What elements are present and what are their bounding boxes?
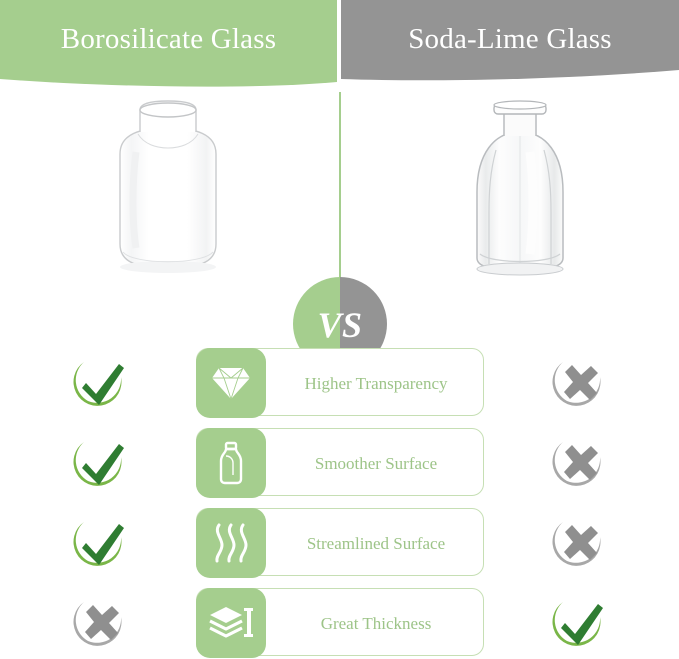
check-icon [549, 592, 609, 652]
soda-lime-bottle-image [430, 92, 610, 297]
feature-row: Smoother Surface [0, 428, 679, 496]
feature-label: Higher Transparency [275, 349, 477, 417]
check-icon [70, 512, 130, 572]
feature-pill: Streamlined Surface [196, 508, 484, 576]
bottle-icon [196, 428, 266, 498]
cross-icon [549, 512, 609, 572]
waves-icon [196, 508, 266, 578]
cross-icon [549, 432, 609, 492]
cross-icon [70, 592, 130, 652]
feature-comparison-list: Higher Transparency Smoot [0, 340, 679, 659]
feature-row: Great Thickness [0, 588, 679, 656]
header-title-borosilicate: Borosilicate Glass [0, 16, 337, 62]
feature-pill: Smoother Surface [196, 428, 484, 496]
feature-label: Smoother Surface [275, 429, 477, 497]
feature-row: Higher Transparency [0, 348, 679, 416]
feature-pill: Great Thickness [196, 588, 484, 656]
feature-label: Great Thickness [275, 589, 477, 657]
comparison-header: Borosilicate Glass Soda-Lime Glass [0, 0, 679, 92]
check-icon [70, 352, 130, 412]
diamond-icon [196, 348, 266, 418]
cross-icon [549, 352, 609, 412]
feature-label: Streamlined Surface [275, 509, 477, 577]
feature-pill: Higher Transparency [196, 348, 484, 416]
borosilicate-jar-image [78, 92, 258, 297]
header-title-soda-lime: Soda-Lime Glass [341, 16, 679, 62]
layers-icon [196, 588, 266, 658]
check-icon [70, 432, 130, 492]
product-comparison-area: VS [0, 92, 679, 340]
feature-row: Streamlined Surface [0, 508, 679, 576]
